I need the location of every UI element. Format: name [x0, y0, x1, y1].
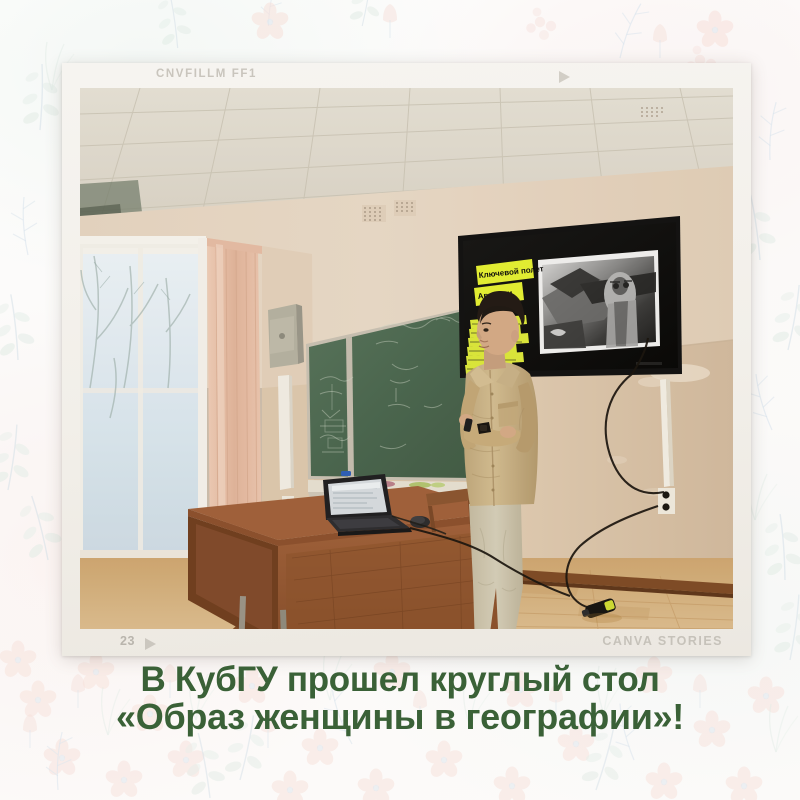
polaroid-bottom-bar: 23 CANVA STORIES — [62, 629, 751, 656]
caption-line-2: «Образ женщины в географии»! — [0, 698, 800, 735]
brand-label: CANVA STORIES — [602, 634, 723, 648]
film-code-label: CNVFILLM FF1 — [156, 68, 257, 80]
polaroid-frame: CNVFILLM FF1 — [62, 63, 751, 656]
classroom-photo: Ключевой полет Авиации — [80, 88, 733, 629]
play-triangle-icon — [559, 71, 570, 83]
frame-number-label: 23 — [120, 634, 135, 648]
story-canvas: CNVFILLM FF1 — [0, 0, 800, 800]
play-triangle-icon-bottom — [145, 638, 156, 650]
caption: В КубГУ прошел круглый стол «Образ женщи… — [0, 662, 800, 736]
caption-line-1: В КубГУ прошел круглый стол — [0, 662, 800, 698]
polaroid-top-bar: CNVFILLM FF1 — [62, 63, 751, 88]
